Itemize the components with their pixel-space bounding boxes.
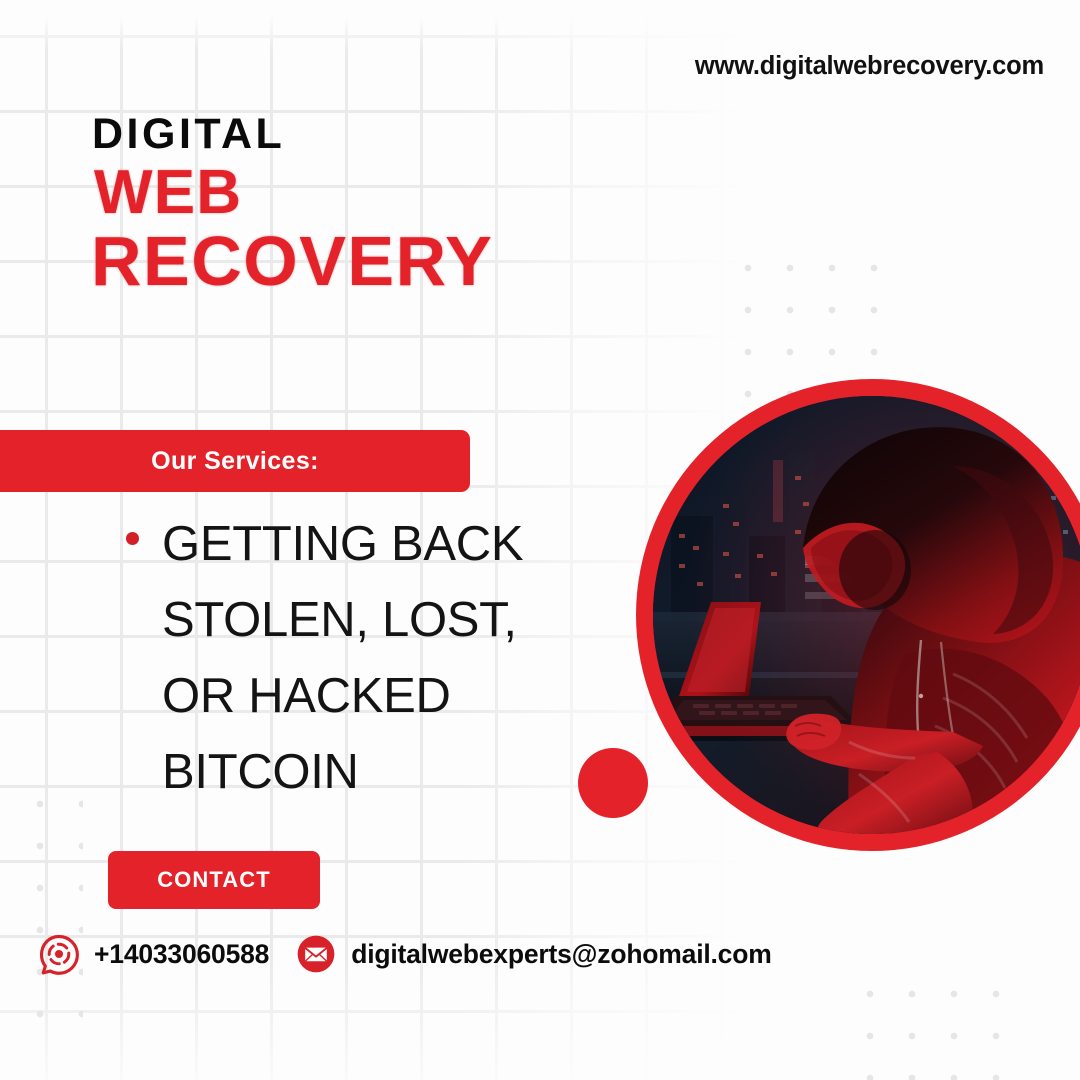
footer-phone-item[interactable]: +14033060588 [38,933,269,975]
grid-fade-bottom [0,960,1080,1080]
footer-email-address: digitalwebexperts@zohomail.com [351,939,771,970]
chat-bubble-icon [38,933,80,975]
poster-canvas: www.digitalwebrecovery.com DIGITAL WEB R… [0,0,1080,1080]
hero-image-ring [636,379,1080,851]
contact-button[interactable]: CONTACT [108,851,320,909]
website-url[interactable]: www.digitalwebrecovery.com [695,52,1044,81]
grid-fade-top [0,0,1080,52]
footer-email-item[interactable]: digitalwebexperts@zohomail.com [295,933,771,975]
services-headline: GETTING BACK STOLEN, LOST, OR HACKED BIT… [162,506,596,810]
envelope-icon [295,933,337,975]
hooded-hacker-illustration [653,396,1080,834]
bullet-point-icon [126,532,139,545]
headline-line-2: STOLEN, LOST, [162,582,596,658]
headline-line-3: OR HACKED [162,658,596,734]
logo-line-web: WEB [94,162,493,224]
services-headline-block: GETTING BACK STOLEN, LOST, OR HACKED BIT… [126,506,596,810]
brand-logo: DIGITAL WEB RECOVERY [92,113,493,296]
hero-image [653,396,1080,834]
our-services-banner: Our Services: [0,430,470,492]
dot-grid-bottom-left [19,783,83,1018]
dot-grid-bottom-right [849,973,1021,1080]
footer-contact-row: +14033060588 digitalwebexperts@zohomail.… [38,933,772,975]
footer-phone-number: +14033060588 [94,939,269,970]
headline-line-1: GETTING BACK [162,506,596,582]
logo-line-digital: DIGITAL [92,113,493,156]
our-services-label: Our Services: [151,447,319,476]
logo-line-recovery: RECOVERY [91,226,493,296]
headline-line-4: BITCOIN [162,734,596,810]
